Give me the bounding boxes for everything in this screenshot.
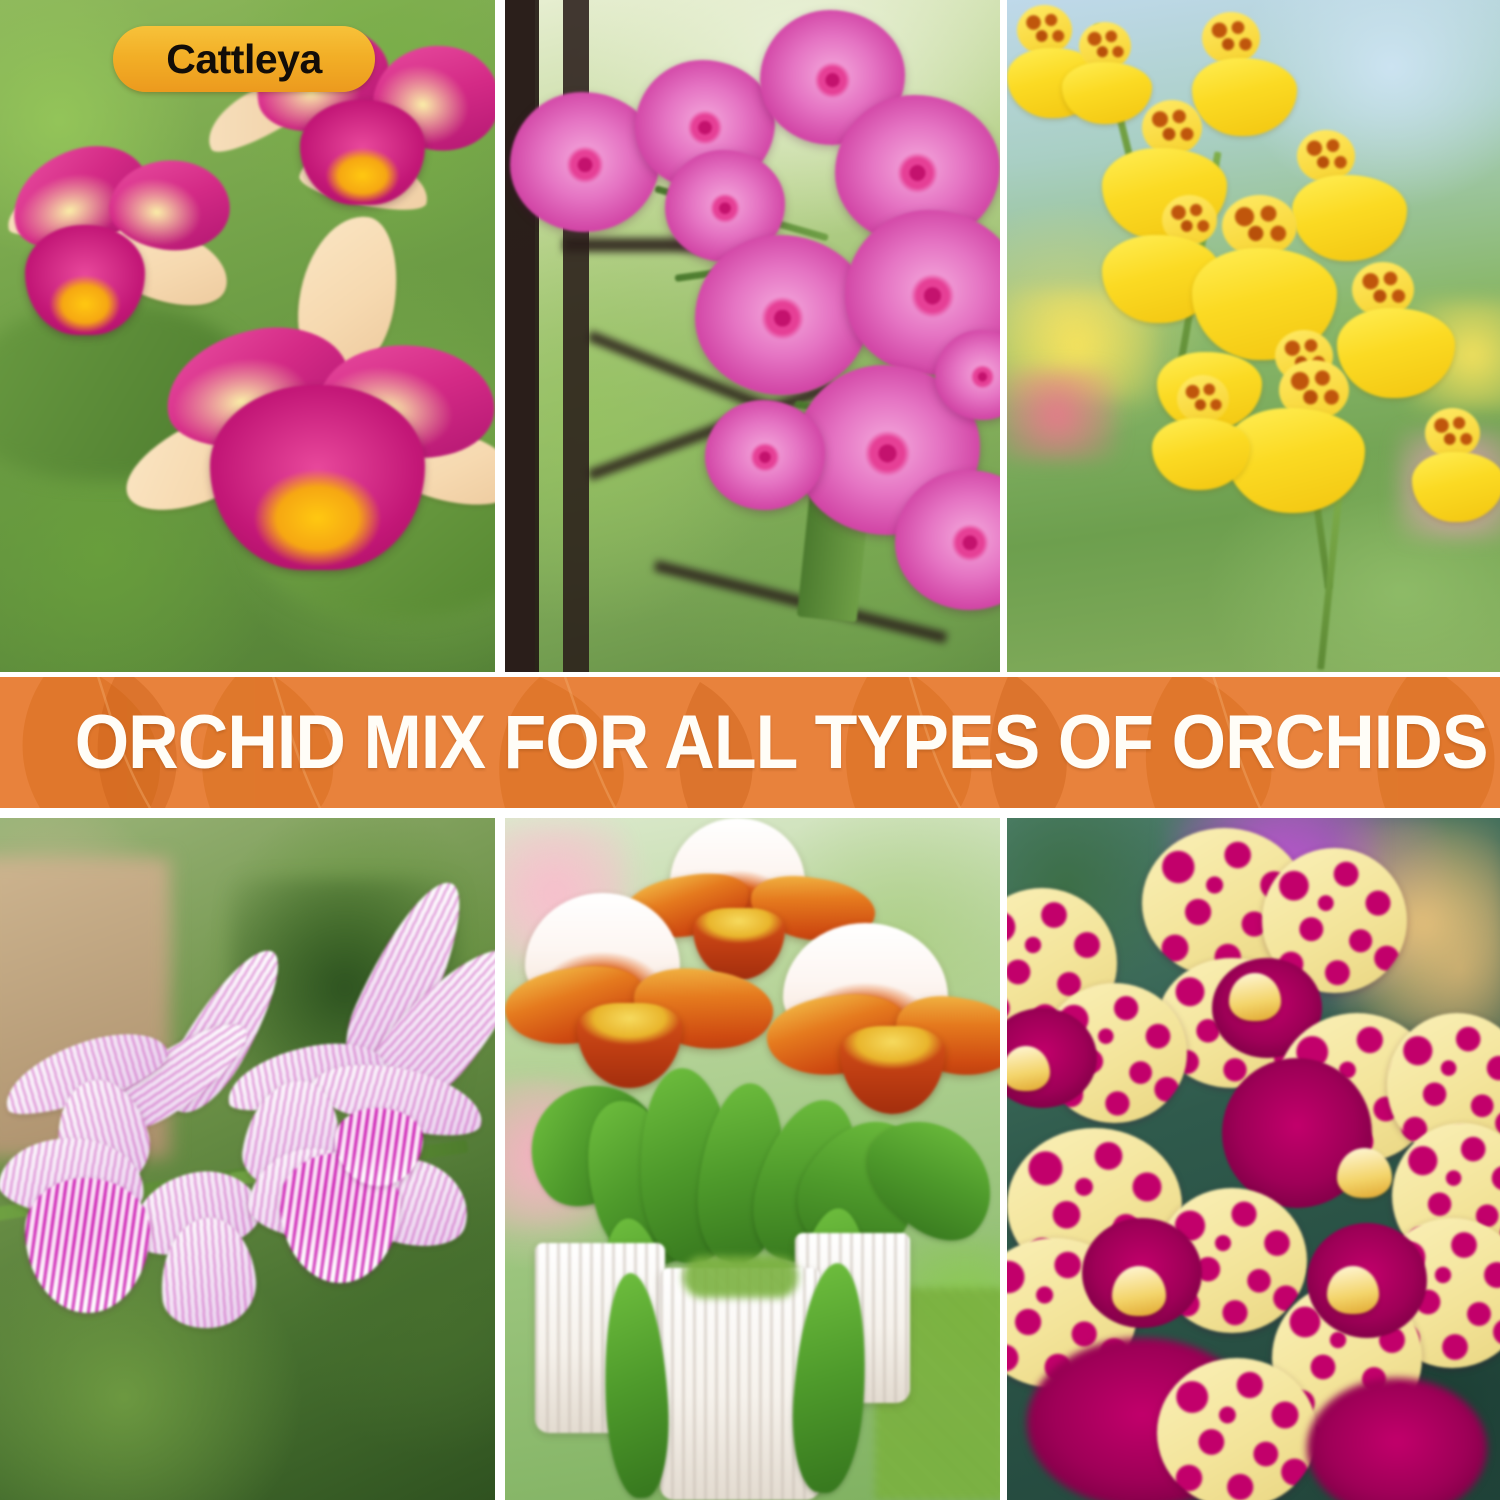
- banner-title: ORCHID MIX FOR ALL TYPES OF ORCHIDS: [60, 705, 1440, 781]
- phalaenopsis-photo: [505, 0, 1000, 672]
- label-text-cattleya: Cattleya: [166, 39, 322, 80]
- oncidium-photo: [1007, 0, 1500, 672]
- orchid-infographic: Cattleya Phalaeno: [0, 0, 1500, 1500]
- panel-dendrobium: Dendrobium: [0, 818, 495, 1500]
- headline-banner: ORCHID MIX FOR ALL TYPES OF ORCHIDS: [0, 677, 1500, 808]
- vanda-photo: [1007, 818, 1500, 1500]
- panel-cattleya: Cattleya: [0, 0, 495, 672]
- panel-vanda: Vanda: [1007, 818, 1500, 1500]
- panel-oncidium: Oncidium: [1007, 0, 1500, 672]
- panel-phalaenopsis: Phalaenopsis: [505, 0, 1000, 672]
- cattleya-photo: [0, 0, 495, 672]
- dendrobium-photo: [0, 818, 495, 1500]
- label-badge-cattleya: Cattleya: [113, 26, 375, 92]
- paphiopedilum-photo: [505, 818, 1000, 1500]
- panel-paphiopedilum: Paphiopedilum: [505, 818, 1000, 1500]
